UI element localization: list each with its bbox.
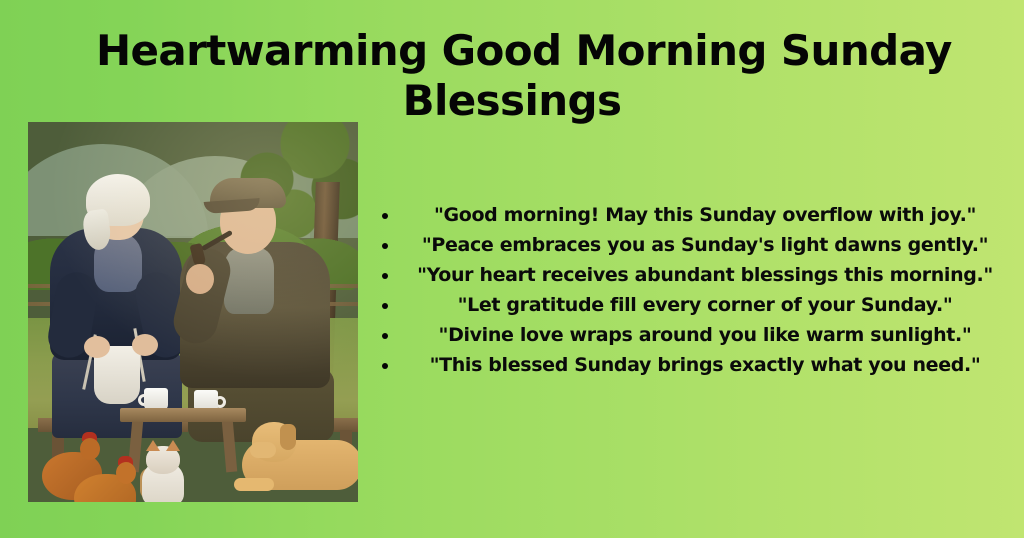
mug-left-icon — [144, 388, 168, 410]
bullet-icon — [382, 363, 388, 369]
poster-canvas: Heartwarming Good Morning Sunday Blessin… — [0, 0, 1024, 538]
dog-ear-icon — [280, 424, 296, 450]
blessing-text: "Peace embraces you as Sunday's light da… — [422, 234, 988, 256]
list-item: "Divine love wraps around you like warm … — [376, 320, 1012, 350]
blessing-text: "Your heart receives abundant blessings … — [417, 264, 993, 286]
dog-paw-icon — [234, 478, 274, 491]
bullet-icon — [382, 333, 388, 339]
man-shirt-icon — [224, 248, 274, 314]
list-item: "This blessed Sunday brings exactly what… — [376, 350, 1012, 380]
blessing-text: "Good morning! May this Sunday overflow … — [434, 204, 976, 226]
bullet-icon — [382, 303, 388, 309]
list-item: "Let gratitude fill every corner of your… — [376, 290, 1012, 320]
list-item: "Peace embraces you as Sunday's light da… — [376, 230, 1012, 260]
page-title: Heartwarming Good Morning Sunday Blessin… — [96, 26, 928, 126]
blessings-list: "Good morning! May this Sunday overflow … — [376, 200, 1012, 380]
blessing-text: "Let gratitude fill every corner of your… — [458, 294, 953, 316]
list-item: "Good morning! May this Sunday overflow … — [376, 200, 1012, 230]
wooden-table-icon — [120, 408, 246, 422]
page-title-line-2: Blessings — [96, 76, 928, 126]
hen-right-head-icon — [116, 462, 136, 484]
bullet-icon — [382, 213, 388, 219]
blessing-text: "Divine love wraps around you like warm … — [439, 324, 972, 346]
woman-left-hand-icon — [84, 336, 110, 358]
bullet-icon — [382, 273, 388, 279]
dog-snout-icon — [250, 442, 276, 458]
bullet-icon — [382, 243, 388, 249]
woman-right-hand-icon — [132, 334, 158, 356]
list-item: "Your heart receives abundant blessings … — [376, 260, 1012, 290]
blessing-text: "This blessed Sunday brings exactly what… — [430, 354, 981, 376]
page-title-line-1: Heartwarming Good Morning Sunday — [96, 26, 928, 76]
couple-photo — [28, 122, 358, 502]
cat-left-ear-icon — [146, 440, 160, 451]
cat-right-ear-icon — [166, 440, 180, 451]
man-hand-icon — [186, 264, 214, 294]
hen-left-head-icon — [80, 438, 100, 460]
